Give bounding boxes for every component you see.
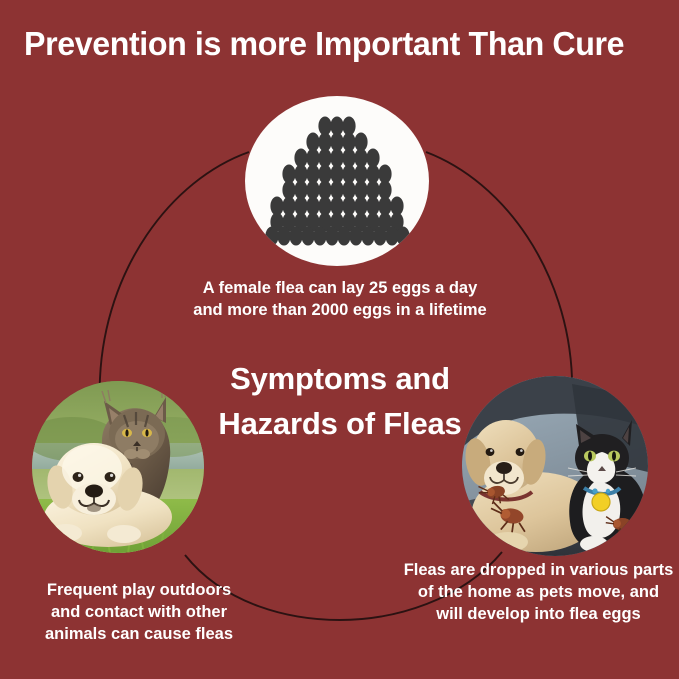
right-photo-circle [462, 376, 648, 556]
right-caption-line-1: Fleas are dropped in various parts [398, 560, 679, 582]
center-heading: Symptoms and Hazards of Fleas [170, 357, 510, 447]
right-caption-line-2: of the home as pets move, and [398, 582, 679, 604]
top-caption-line-2: and more than 2000 eggs in a lifetime [150, 300, 530, 322]
left-caption-line-3: animals can cause fleas [8, 624, 270, 646]
infographic-poster: Prevention is more Important Than Cure [0, 0, 679, 679]
right-node-caption: Fleas are dropped in various parts of th… [398, 560, 679, 625]
center-heading-line-2: Hazards of Fleas [170, 402, 510, 447]
dog-and-cat-with-fleas-photo [462, 376, 648, 556]
top-node-caption: A female flea can lay 25 eggs a day and … [150, 278, 530, 322]
left-caption-line-2: and contact with other [8, 602, 270, 624]
dog-and-cat-on-grass-photo [32, 381, 204, 553]
egg-pyramid-circle [245, 96, 429, 266]
left-caption-line-1: Frequent play outdoors [8, 580, 270, 602]
left-photo-circle [32, 381, 204, 553]
center-heading-line-1: Symptoms and [170, 357, 510, 402]
flea-egg-pyramid-icon [262, 115, 412, 247]
top-caption-line-1: A female flea can lay 25 eggs a day [150, 278, 530, 300]
right-caption-line-3: will develop into flea eggs [398, 604, 679, 626]
left-node-caption: Frequent play outdoors and contact with … [8, 580, 270, 645]
